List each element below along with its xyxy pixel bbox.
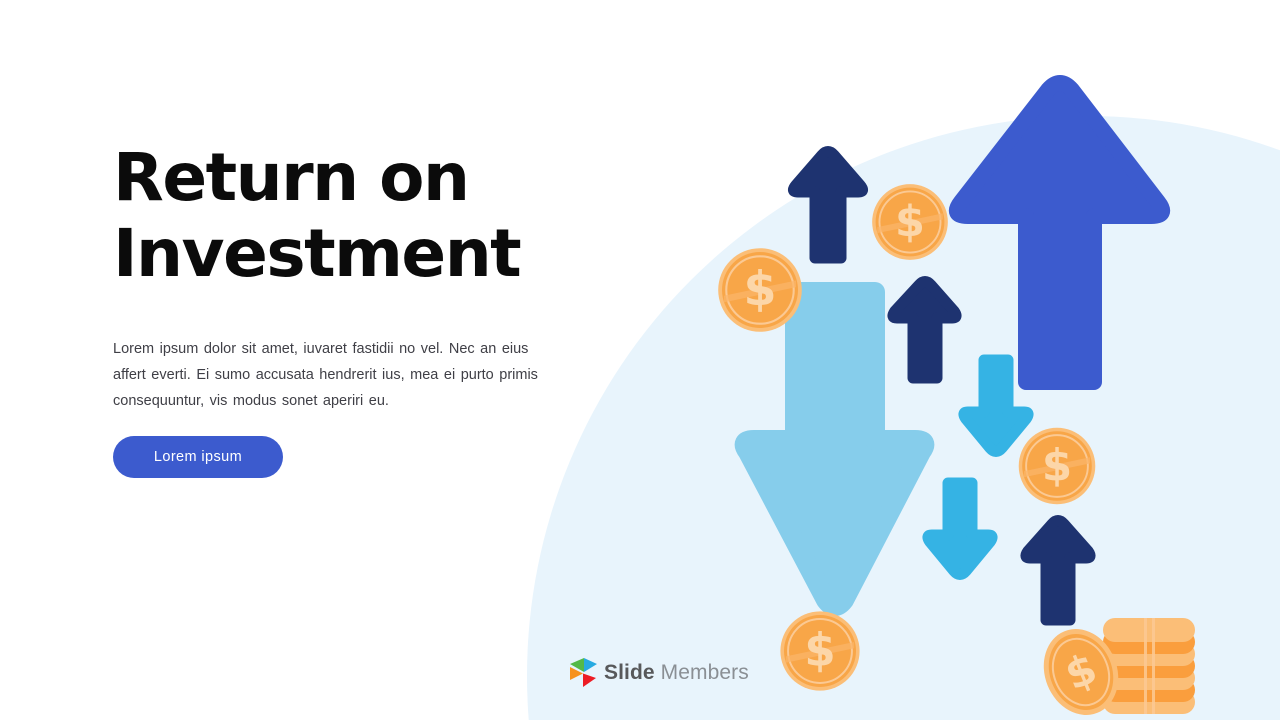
slide-canvas: $ [0, 0, 1280, 720]
slidemembers-logo-text: Slide Members [604, 661, 749, 685]
cta-button[interactable]: Lorem ipsum [113, 436, 283, 478]
coin-mid-right [1019, 428, 1096, 505]
body-paragraph: Lorem ipsum dolor sit amet, iuvaret fast… [113, 336, 538, 414]
arrow-up-navy-small-top [793, 152, 862, 259]
coin-stack: $ [1031, 618, 1195, 720]
page-title-line-2: Investment [113, 215, 520, 292]
arrow-down-cyan-lower [928, 483, 992, 575]
arrow-up-navy-bottom [1026, 521, 1090, 621]
page-title-line-1: Return on [113, 139, 468, 216]
coin-top-right [872, 184, 948, 260]
logo-name-bold: Slide [604, 661, 655, 684]
arrow-down-lightblue-large [745, 292, 925, 606]
logo-name-light: Members [661, 661, 749, 684]
slidemembers-logo: Slide Members [568, 656, 749, 690]
coin-upper-left [718, 248, 802, 332]
text-column: Return onInvestment Lorem ipsum dolor si… [113, 140, 563, 292]
page-title: Return onInvestment [113, 140, 563, 292]
coin-bottom-center [780, 611, 859, 690]
arrow-up-navy-mid [893, 282, 956, 379]
arrow-up-royal-large [957, 83, 1162, 382]
slidemembers-logo-mark [568, 656, 598, 690]
